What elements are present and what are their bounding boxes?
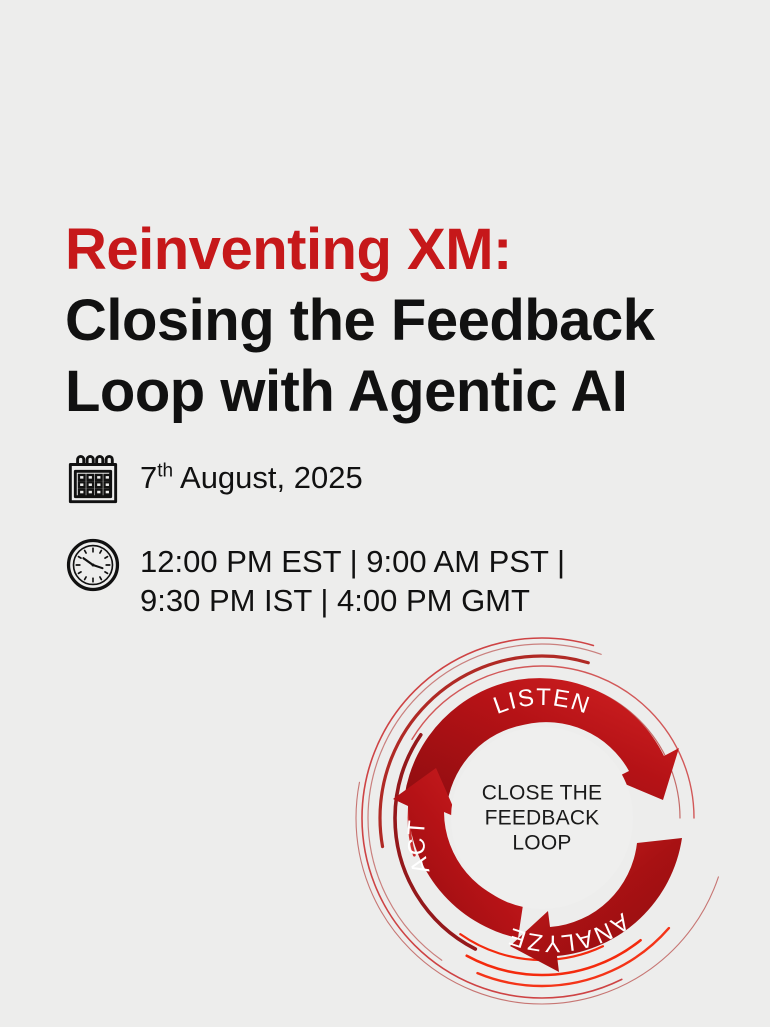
clock-icon xyxy=(64,536,122,594)
feedback-loop-diagram: LISTEN ANALYZE ACT CLOSE THE FEEDBACK LO… xyxy=(352,628,732,1008)
poster-canvas: Reinventing XM: Closing the Feedback Loo… xyxy=(0,0,770,1027)
page-title-rest: Closing the Feedback Loop with Agentic A… xyxy=(65,288,654,424)
time-row: 12:00 PM EST | 9:00 AM PST | 9:30 PM IST… xyxy=(64,536,565,620)
cycle-label-act: ACT xyxy=(403,818,436,876)
date-text: 7th August, 2025 xyxy=(140,450,363,497)
date-day: 7 xyxy=(140,460,157,495)
calendar-icon xyxy=(64,450,122,508)
date-rest: August, 2025 xyxy=(173,460,363,495)
title-block: Reinventing XM: Closing the Feedback Loo… xyxy=(65,214,705,427)
page-title-accent: Reinventing XM: xyxy=(65,217,512,282)
time-text: 12:00 PM EST | 9:00 AM PST | 9:30 PM IST… xyxy=(140,536,565,620)
page-title: Reinventing XM: Closing the Feedback Loo… xyxy=(65,214,705,427)
date-row: 7th August, 2025 xyxy=(64,450,363,508)
feedback-loop-svg: LISTEN ANALYZE ACT xyxy=(352,628,732,1008)
date-ordinal: th xyxy=(157,461,173,482)
cycle-center-disc xyxy=(451,727,633,909)
